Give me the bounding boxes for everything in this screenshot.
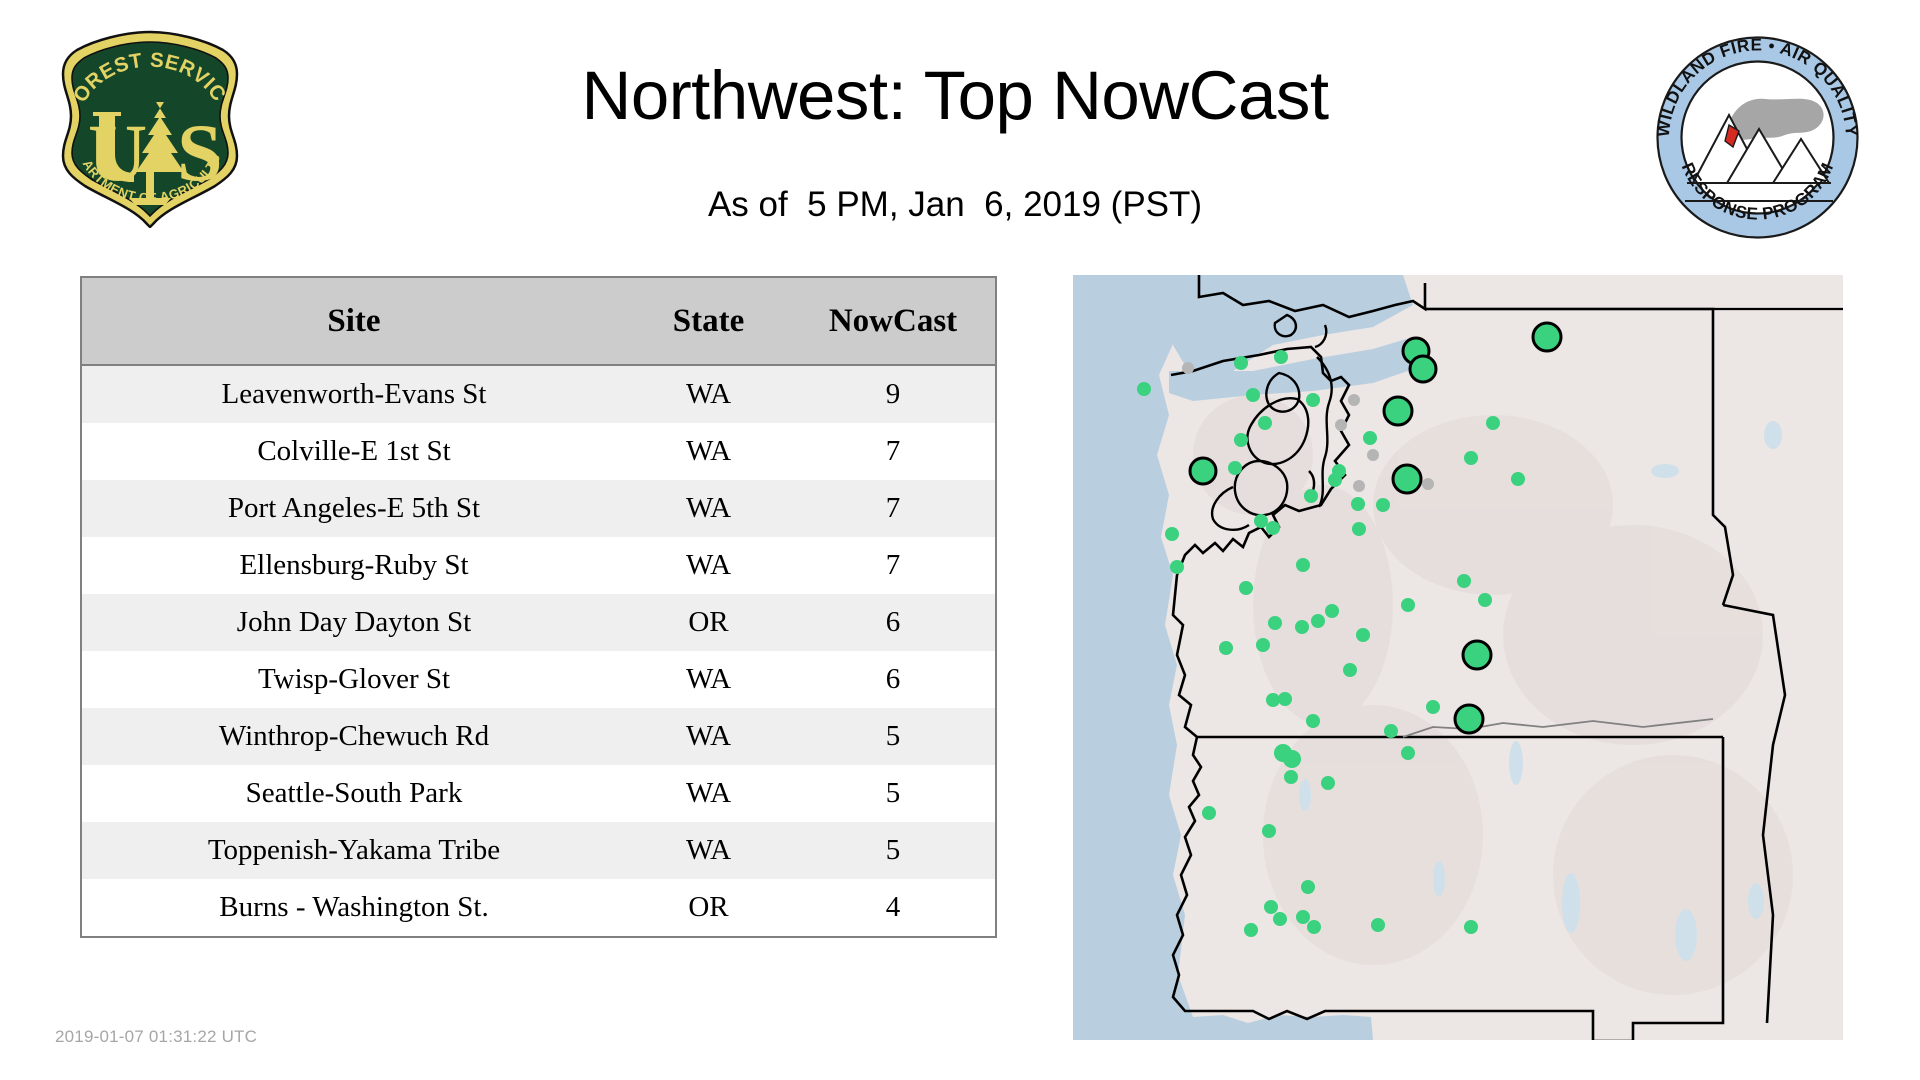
monitor-marker[interactable] <box>1295 620 1309 634</box>
monitor-marker[interactable] <box>1268 616 1282 630</box>
table-row: Ellensburg-Ruby StWA7 <box>81 537 996 594</box>
monitor-marker[interactable] <box>1254 514 1268 528</box>
monitor-marker[interactable] <box>1170 560 1184 574</box>
generation-timestamp: 2019-01-07 01:31:22 UTC <box>55 1027 257 1047</box>
table-cell-nowcast: 5 <box>791 765 996 822</box>
table-cell-site: Leavenworth-Evans St <box>81 365 626 423</box>
top-nowcast-site-marker[interactable] <box>1455 705 1483 733</box>
monitor-marker[interactable] <box>1352 522 1366 536</box>
top-nowcast-site-marker[interactable] <box>1190 458 1216 484</box>
monitor-marker[interactable] <box>1239 581 1253 595</box>
monitor-marker[interactable] <box>1307 920 1321 934</box>
table-cell-site: Twisp-Glover St <box>81 651 626 708</box>
offline-monitor-marker[interactable] <box>1367 449 1379 461</box>
monitor-marker[interactable] <box>1278 692 1292 706</box>
monitor-marker[interactable] <box>1202 806 1216 820</box>
monitor-marker[interactable] <box>1264 900 1278 914</box>
monitor-marker[interactable] <box>1137 382 1151 396</box>
monitor-marker[interactable] <box>1478 593 1492 607</box>
monitor-marker[interactable] <box>1234 433 1248 447</box>
monitor-marker[interactable] <box>1274 350 1288 364</box>
monitor-marker[interactable] <box>1165 527 1179 541</box>
nowcast-table: Site State NowCast Leavenworth-Evans StW… <box>80 276 997 938</box>
monitor-marker[interactable] <box>1401 598 1415 612</box>
table-cell-nowcast: 5 <box>791 708 996 765</box>
table-cell-site: Colville-E 1st St <box>81 423 626 480</box>
top-nowcast-site-marker[interactable] <box>1463 641 1491 669</box>
table-cell-nowcast: 7 <box>791 423 996 480</box>
monitor-marker[interactable] <box>1266 693 1280 707</box>
table-cell-nowcast: 4 <box>791 879 996 937</box>
table-row: Burns - Washington St.OR4 <box>81 879 996 937</box>
table-cell-nowcast: 7 <box>791 480 996 537</box>
monitor-marker[interactable] <box>1351 497 1365 511</box>
monitor-marker[interactable] <box>1311 614 1325 628</box>
monitor-marker[interactable] <box>1457 574 1471 588</box>
monitor-marker[interactable] <box>1266 521 1280 535</box>
table-cell-site: Ellensburg-Ruby St <box>81 537 626 594</box>
offline-monitor-marker[interactable] <box>1335 419 1347 431</box>
monitor-marker[interactable] <box>1296 910 1310 924</box>
monitor-marker[interactable] <box>1244 923 1258 937</box>
monitor-marker[interactable] <box>1284 770 1298 784</box>
monitor-marker[interactable] <box>1246 388 1260 402</box>
monitor-marker[interactable] <box>1511 472 1525 486</box>
monitor-marker[interactable] <box>1258 416 1272 430</box>
monitor-marker[interactable] <box>1228 461 1242 475</box>
table-header-row: Site State NowCast <box>81 277 996 365</box>
column-header-state: State <box>626 277 791 365</box>
monitor-marker[interactable] <box>1234 356 1248 370</box>
table-row: Port Angeles-E 5th StWA7 <box>81 480 996 537</box>
monitor-marker[interactable] <box>1486 416 1500 430</box>
monitor-marker[interactable] <box>1321 776 1335 790</box>
table-cell-site: John Day Dayton St <box>81 594 626 651</box>
table-cell-nowcast: 6 <box>791 594 996 651</box>
table-row: Toppenish-Yakama TribeWA5 <box>81 822 996 879</box>
table-cell-site: Winthrop-Chewuch Rd <box>81 708 626 765</box>
us-forest-service-shield-logo: FOREST SERVICE U S DEPARTMENT OF AGRICUL… <box>55 28 245 228</box>
page-subtitle: As of 5 PM, Jan 6, 2019 (PST) <box>260 185 1650 225</box>
monitor-marker[interactable] <box>1426 700 1440 714</box>
monitor-marker[interactable] <box>1363 431 1377 445</box>
monitor-marker[interactable] <box>1256 638 1270 652</box>
table-cell-state: WA <box>626 480 791 537</box>
top-nowcast-site-marker[interactable] <box>1410 356 1436 382</box>
offline-monitor-marker[interactable] <box>1182 362 1194 374</box>
table-cell-nowcast: 9 <box>791 365 996 423</box>
nowcast-table-body: Leavenworth-Evans StWA9Colville-E 1st St… <box>81 365 996 937</box>
northwest-monitor-map[interactable] <box>1073 275 1843 1040</box>
top-nowcast-site-marker[interactable] <box>1393 465 1421 493</box>
monitor-marker[interactable] <box>1464 451 1478 465</box>
table-row: Colville-E 1st StWA7 <box>81 423 996 480</box>
monitor-marker[interactable] <box>1262 824 1276 838</box>
table-cell-state: WA <box>626 423 791 480</box>
offline-monitor-marker[interactable] <box>1348 394 1360 406</box>
monitor-marker[interactable] <box>1325 604 1339 618</box>
table-cell-state: WA <box>626 765 791 822</box>
monitor-marker[interactable] <box>1332 464 1346 478</box>
column-header-nowcast: NowCast <box>791 277 996 365</box>
offline-monitor-marker[interactable] <box>1353 480 1365 492</box>
table-row: Winthrop-Chewuch RdWA5 <box>81 708 996 765</box>
table-cell-state: WA <box>626 651 791 708</box>
table-cell-state: WA <box>626 537 791 594</box>
offline-monitor-marker[interactable] <box>1422 478 1434 490</box>
table-cell-state: WA <box>626 822 791 879</box>
monitor-marker[interactable] <box>1219 641 1233 655</box>
monitor-marker[interactable] <box>1376 498 1390 512</box>
monitor-marker[interactable] <box>1464 920 1478 934</box>
monitor-marker[interactable] <box>1273 912 1287 926</box>
monitor-marker[interactable] <box>1306 393 1320 407</box>
table-cell-site: Toppenish-Yakama Tribe <box>81 822 626 879</box>
monitor-marker[interactable] <box>1306 714 1320 728</box>
monitor-marker[interactable] <box>1296 558 1310 572</box>
page-title: Northwest: Top NowCast <box>260 56 1650 135</box>
wildland-fire-air-quality-response-program-logo: WILDLAND FIRE • AIR QUALITY RESPONSE PRO… <box>1655 35 1860 240</box>
table-cell-state: OR <box>626 879 791 937</box>
table-cell-state: WA <box>626 708 791 765</box>
monitor-marker[interactable] <box>1304 489 1318 503</box>
monitor-marker[interactable] <box>1283 750 1301 768</box>
table-cell-site: Port Angeles-E 5th St <box>81 480 626 537</box>
monitor-marker[interactable] <box>1401 746 1415 760</box>
table-row: John Day Dayton StOR6 <box>81 594 996 651</box>
monitor-marker[interactable] <box>1384 724 1398 738</box>
nowcast-table-container: Site State NowCast Leavenworth-Evans StW… <box>80 276 995 938</box>
table-cell-state: OR <box>626 594 791 651</box>
table-cell-state: WA <box>626 365 791 423</box>
column-header-site: Site <box>81 277 626 365</box>
table-cell-nowcast: 7 <box>791 537 996 594</box>
table-row: Twisp-Glover StWA6 <box>81 651 996 708</box>
table-cell-site: Seattle-South Park <box>81 765 626 822</box>
table-row: Seattle-South ParkWA5 <box>81 765 996 822</box>
top-nowcast-site-marker[interactable] <box>1384 397 1412 425</box>
monitor-marker[interactable] <box>1356 628 1370 642</box>
monitor-marker[interactable] <box>1371 918 1385 932</box>
monitor-marker[interactable] <box>1343 663 1357 677</box>
table-cell-nowcast: 6 <box>791 651 996 708</box>
monitor-marker[interactable] <box>1301 880 1315 894</box>
table-row: Leavenworth-Evans StWA9 <box>81 365 996 423</box>
table-cell-site: Burns - Washington St. <box>81 879 626 937</box>
table-cell-nowcast: 5 <box>791 822 996 879</box>
top-nowcast-site-marker[interactable] <box>1533 323 1561 351</box>
